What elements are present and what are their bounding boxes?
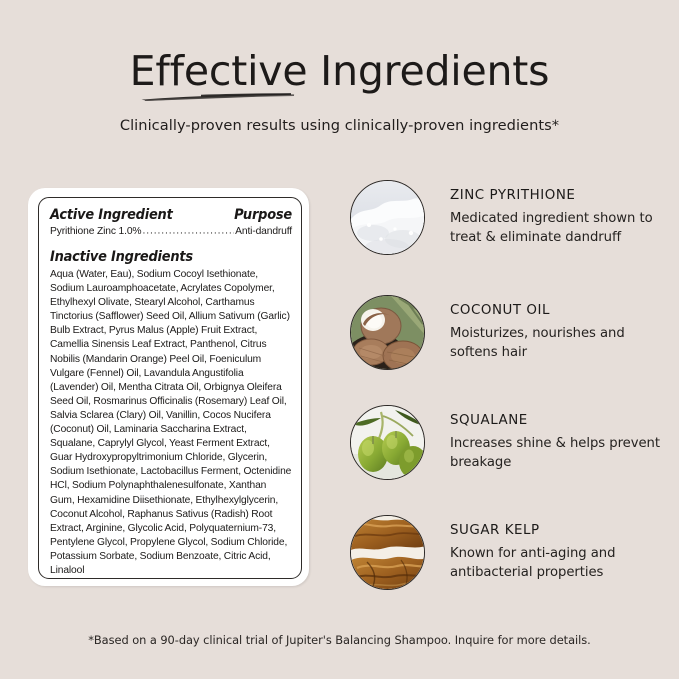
active-ingredient-row: Pyrithione Zinc 1.0% ...................… — [50, 226, 292, 237]
inactive-ingredients-list: Aqua (Water, Eau), Sodium Cocoyl Isethio… — [50, 268, 292, 578]
feature-text-sugar-kelp: SUGAR KELP Known for anti-aging and anti… — [450, 523, 672, 582]
feature-row-sugar-kelp: SUGAR KELP Known for anti-aging and anti… — [349, 515, 669, 607]
active-ingredient-name: Pyrithione Zinc 1.0% — [50, 226, 141, 237]
feature-description: Known for anti-aging and antibacterial p… — [450, 545, 672, 582]
feature-text-zinc-pyrithione: ZINC PYRITHIONE Medicated ingredient sho… — [450, 188, 672, 247]
active-ingredient-purpose: Anti-dandruff — [235, 226, 292, 237]
feature-row-squalane: SQUALANE Increases shine & helps prevent… — [349, 405, 669, 497]
purpose-heading: Purpose — [234, 207, 292, 223]
label-inner-frame: Active Ingredient Purpose Pyrithione Zin… — [38, 197, 302, 579]
page-title: Effective Ingredients — [0, 48, 679, 94]
coconuts-photo-icon — [350, 295, 425, 370]
feature-description: Moisturizes, nourishes and softens hair — [450, 325, 672, 362]
label-content: Active Ingredient Purpose Pyrithione Zin… — [50, 207, 292, 574]
feature-description: Increases shine & helps prevent breakage — [450, 435, 672, 472]
feature-description: Medicated ingredient shown to treat & el… — [450, 210, 672, 247]
feature-row-zinc-pyrithione: ZINC PYRITHIONE Medicated ingredient sho… — [349, 180, 669, 272]
brown-kelp-photo-icon — [350, 515, 425, 590]
white-powder-photo-icon — [350, 180, 425, 255]
active-ingredient-heading: Active Ingredient — [50, 207, 173, 223]
feature-name: ZINC PYRITHIONE — [450, 188, 672, 203]
feature-name: COCONUT OIL — [450, 303, 672, 318]
green-olives-photo-icon — [350, 405, 425, 480]
feature-text-squalane: SQUALANE Increases shine & helps prevent… — [450, 413, 672, 472]
feature-name: SUGAR KELP — [450, 523, 672, 538]
page-subtitle: Clinically-proven results using clinical… — [0, 117, 679, 134]
feature-row-coconut-oil: COCONUT OIL Moisturizes, nourishes and s… — [349, 295, 669, 387]
inactive-ingredients-heading: Inactive Ingredients — [50, 249, 292, 265]
clinical-trial-footnote: *Based on a 90-day clinical trial of Jup… — [0, 633, 679, 647]
feature-text-coconut-oil: COCONUT OIL Moisturizes, nourishes and s… — [450, 303, 672, 362]
active-ingredient-header-row: Active Ingredient Purpose — [50, 207, 292, 223]
feature-name: SQUALANE — [450, 413, 672, 428]
leader-dots: ........................................… — [142, 226, 234, 237]
ingredient-label-card: Active Ingredient Purpose Pyrithione Zin… — [28, 188, 309, 586]
